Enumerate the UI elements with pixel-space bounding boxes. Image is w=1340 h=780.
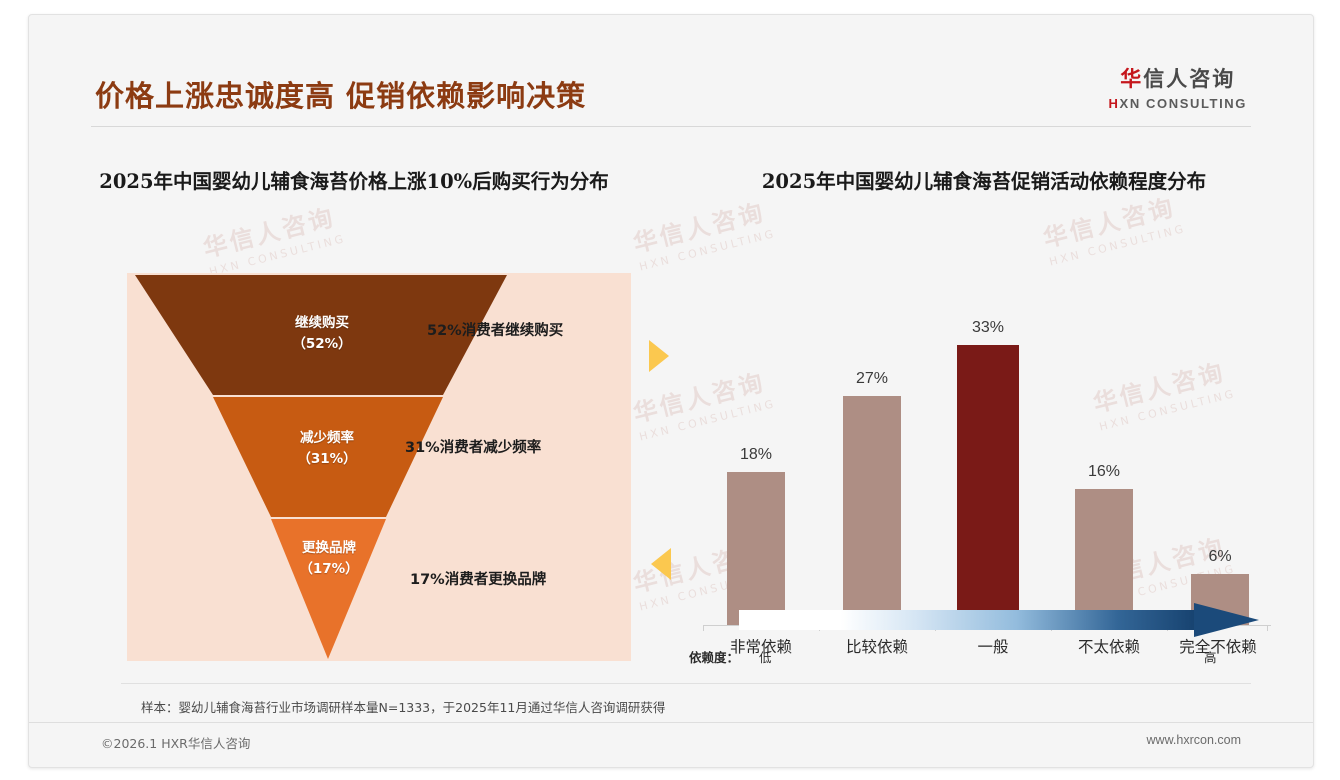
funnel-segment-reduce[interactable] xyxy=(213,397,443,517)
funnel-note-switch: 17%消费者更换品牌 xyxy=(410,568,546,589)
bar-column[interactable]: 16% xyxy=(1051,303,1157,625)
bar-value-label: 6% xyxy=(1167,548,1273,566)
logo-english-rest: XN CONSULTING xyxy=(1120,96,1247,111)
logo-english: HXN CONSULTING xyxy=(1109,96,1247,111)
triangle-left-icon xyxy=(651,548,671,580)
brand-logo: 华信人咨询 HXN CONSULTING xyxy=(1109,63,1247,111)
legend-caption: 依赖度： xyxy=(689,647,739,666)
funnel-note-reduce: 31%消费者减少频率 xyxy=(405,436,541,457)
bar-chart-title: 2025年中国婴幼儿辅食海苔促销活动依赖程度分布 xyxy=(669,135,1299,196)
slide-card: 价格上涨忠诚度高 促销依赖影响决策 华信人咨询 HXN CONSULTING 华… xyxy=(28,14,1314,768)
bar-plot: 18% 27% 33% 16% xyxy=(703,303,1271,625)
funnel-chart-title: 2025年中国婴幼儿辅食海苔价格上涨10%后购买行为分布 xyxy=(49,135,659,196)
logo-chinese-accent: 华 xyxy=(1120,67,1143,91)
logo-chinese-rest: 信人咨询 xyxy=(1143,67,1235,91)
bar-column-highlight[interactable]: 33% xyxy=(935,303,1041,625)
page-title: 价格上涨忠诚度高 促销依赖影响决策 xyxy=(95,73,586,115)
bar-chart-panel: 2025年中国婴幼儿辅食海苔促销活动依赖程度分布 18% 27% xyxy=(669,135,1299,680)
bar-column[interactable]: 27% xyxy=(819,303,925,625)
slide: 价格上涨忠诚度高 促销依赖影响决策 华信人咨询 HXN CONSULTING 华… xyxy=(0,0,1340,780)
bar-value-label: 16% xyxy=(1051,463,1157,481)
bar-rect[interactable] xyxy=(843,396,901,625)
website-link[interactable]: www.hxrcon.com xyxy=(1147,733,1241,747)
slide-header: 价格上涨忠诚度高 促销依赖影响决策 华信人咨询 HXN CONSULTING xyxy=(29,15,1313,127)
legend-high-label: 高 xyxy=(1204,647,1217,666)
triangle-right-icon xyxy=(649,340,669,372)
logo-english-accent: H xyxy=(1109,96,1120,111)
funnel-plot-area: 继续购买 （52%） 减少频率 （31%） 更换品牌 （17%） 52%消费者继… xyxy=(127,273,631,661)
bar-column[interactable]: 18% xyxy=(703,303,809,625)
bar-rect-highlight[interactable] xyxy=(957,345,1019,625)
bar-value-label: 33% xyxy=(935,319,1041,337)
bar-value-label: 27% xyxy=(819,370,925,388)
funnel-note-continue: 52%消费者继续购买 xyxy=(427,319,563,340)
legend-low-label: 低 xyxy=(759,647,772,666)
funnel-segment-switch[interactable] xyxy=(271,519,386,659)
copyright-text: ©2026.1 HXR华信人咨询 xyxy=(101,733,250,752)
sample-note: 样本：婴幼儿辅食海苔行业市场调研样本量N=1333，于2025年11月通过华信人… xyxy=(141,697,665,716)
header-divider xyxy=(91,126,1251,127)
dependency-gradient-legend: 依赖度： 低 高 xyxy=(689,603,1289,675)
footer-divider xyxy=(29,722,1313,723)
note-divider xyxy=(121,683,1251,684)
logo-chinese: 华信人咨询 xyxy=(1109,63,1247,93)
bar-column[interactable]: 6% xyxy=(1167,303,1273,625)
funnel-chart-panel: 2025年中国婴幼儿辅食海苔价格上涨10%后购买行为分布 继续购买 （52%） … xyxy=(49,135,659,680)
gradient-arrow-icon xyxy=(739,603,1259,637)
bar-value-label: 18% xyxy=(703,446,809,464)
